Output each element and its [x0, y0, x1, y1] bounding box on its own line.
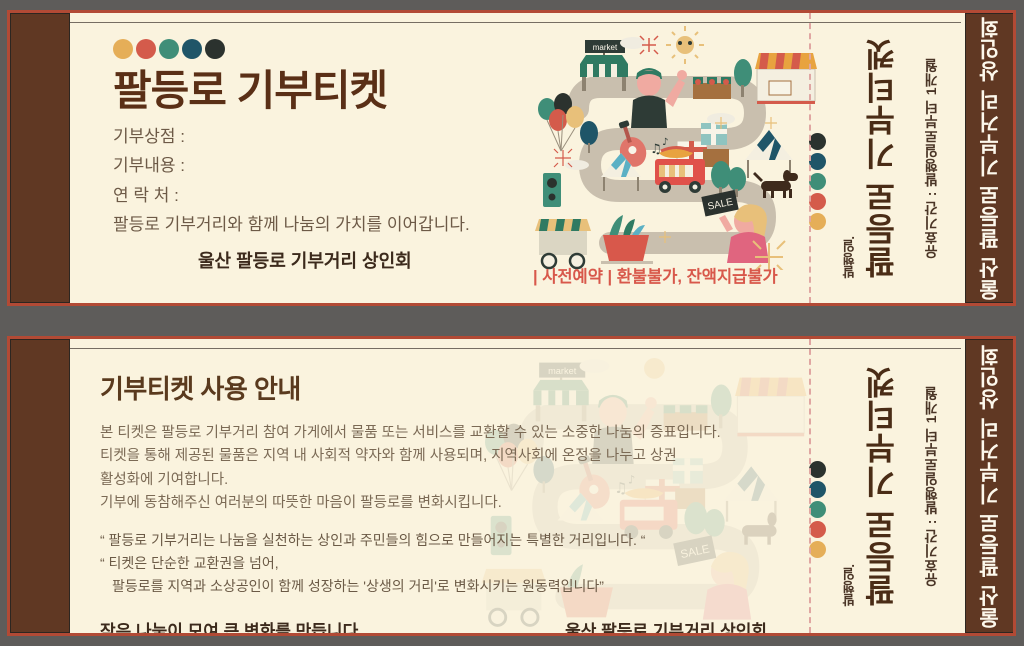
ticket-top-vertical-title: 팔등로 기부티켓	[859, 38, 905, 279]
usage-paragraph-line-1: 본 티켓은 팔등로 기부거리 참여 가게에서 물품 또는 서비스를 교환할 수 …	[100, 422, 779, 445]
ticket-top-right-stub: 울산 팔등로 기부거리 상인회	[965, 13, 1016, 303]
color-dot-vb4	[809, 521, 826, 538]
ticket-bottom-content: 기부티켓 사용 안내 본 티켓은 팔등로 기부거리 참여 가게에서 물품 또는 …	[70, 339, 809, 633]
ticket-bottom-perforation	[809, 339, 811, 633]
ticket-title: 팔등로 기부티켓	[113, 67, 809, 114]
ticket-bottom-footer: 작은 나눔이 모여 큰 변화를 만듭니다. 울산 팔등로 기부거리 상인회	[100, 617, 779, 636]
ticket-top-vertical-column: 유효기간 : 발행일로부터 1개월 팔등로 기부티켓 발행일.	[809, 13, 965, 303]
color-dot-column-bottom	[809, 461, 826, 558]
color-dot-3	[159, 39, 179, 59]
ticket-bottom-vertical-title: 팔등로 기부티켓	[859, 366, 905, 607]
color-dot-2	[136, 39, 156, 59]
ticket-bottom-issue-date: 발행일.	[840, 560, 859, 607]
footer-slogan: 작은 나눔이 모여 큰 변화를 만듭니다.	[100, 617, 363, 636]
footer-organization: 울산 팔등로 기부거리 상인회	[565, 617, 767, 636]
color-dot-1	[113, 39, 133, 59]
color-dot-5	[205, 39, 225, 59]
ticket-bottom-right-stub: 울산 팔등로 기부거리 상인회	[965, 339, 1016, 633]
ticket-bottom-left-stub	[10, 339, 70, 633]
color-dot-v2	[809, 153, 826, 170]
usage-paragraph-line-3: 활성화에 기여합니다.	[100, 469, 779, 492]
color-dot-v1	[809, 133, 826, 150]
color-dot-row	[113, 39, 809, 59]
donation-ticket-top: market	[7, 10, 1016, 306]
color-dot-v4	[809, 193, 826, 210]
quote-line-2: “ 티켓은 단순한 교환권을 넘어,	[100, 552, 779, 575]
ticket-bottom-vertical-main: 팔등로 기부티켓 발행일.	[838, 366, 905, 607]
color-dot-vb2	[809, 481, 826, 498]
ticket-notice: | 사전예약 | 환불불가, 잔액지급불가	[533, 263, 778, 287]
color-dot-v5	[809, 213, 826, 230]
color-dot-v3	[809, 173, 826, 190]
usage-paragraph-line-4: 기부에 동참해주신 여러분의 따뜻한 마음이 팔등로를 변화시킵니다.	[100, 492, 779, 515]
ticket-top-left-stub	[10, 13, 70, 303]
ticket-top-vertical-main: 팔등로 기부티켓 발행일.	[838, 38, 905, 279]
ticket-bottom-vertical-column: 유효기간 : 발행일로부터 1개월 팔등로 기부티켓 발행일.	[809, 339, 965, 633]
ticket-tagline: 팔등로 기부거리와 함께 나눔의 가치를 이어갑니다.	[113, 210, 809, 239]
ticket-bottom-face: market	[70, 339, 965, 633]
ticket-top-stub-text: 울산 팔등로 기부거리 상인회	[976, 16, 1006, 301]
ticket-top-issue-date: 발행일.	[840, 232, 859, 279]
field-contact: 연 락 처 :	[113, 181, 809, 210]
field-donation-store: 기부상점 :	[113, 122, 809, 151]
ticket-top-content: 팔등로 기부티켓 기부상점 : 기부내용 : 연 락 처 : 팔등로 기부거리와…	[70, 13, 809, 303]
ticket-top-validity: 유효기간 : 발행일로부터 1개월	[921, 58, 941, 259]
usage-guide-title: 기부티켓 사용 안내	[100, 369, 779, 406]
field-donation-content: 기부내용 :	[113, 151, 809, 180]
quote-line-3: 팔등로를 지역과 소상공인이 함께 성장하는 '상생의 거리'로 변화시키는 원…	[100, 575, 779, 598]
ticket-bottom-stub-text: 울산 팔등로 기부거리 상인회	[976, 344, 1006, 629]
ticket-top-face: market	[70, 13, 965, 303]
quote-line-1: “ 팔등로 기부거리는 나눔을 실천하는 상인과 주민들의 힘으로 만들어지는 …	[100, 529, 779, 552]
donation-ticket-bottom: market	[7, 336, 1016, 636]
usage-paragraph-line-2: 티켓을 통해 제공된 물품은 지역 내 사회적 약자와 함께 사용되며, 지역사…	[100, 445, 779, 468]
color-dot-vb3	[809, 501, 826, 518]
color-dot-vb5	[809, 541, 826, 558]
ticket-bottom-validity: 유효기간 : 발행일로부터 1개월	[921, 386, 941, 587]
color-dot-4	[182, 39, 202, 59]
ticket-top-perforation	[809, 13, 811, 303]
color-dot-column-top	[809, 133, 826, 230]
color-dot-vb1	[809, 461, 826, 478]
